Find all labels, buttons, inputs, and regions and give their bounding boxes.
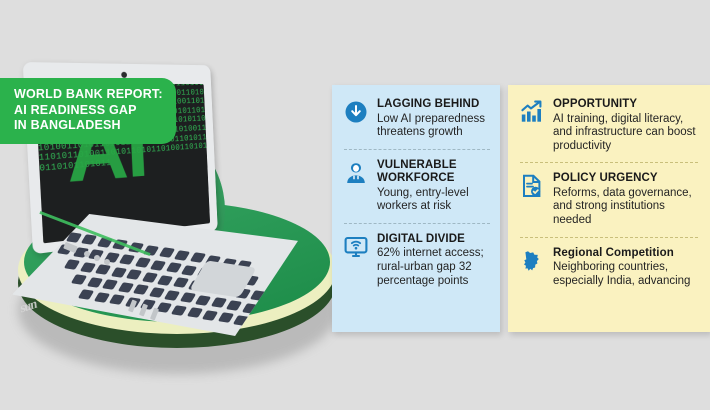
item-body: AI training, digital literacy, and infra…	[553, 113, 698, 154]
banner-line-2: AI READINESS GAP	[14, 103, 162, 119]
keyboard-key	[195, 295, 211, 306]
keyboard-key	[250, 290, 266, 301]
panel-item-policy-urgency: POLICY URGENCY Reforms, data governance,…	[520, 172, 698, 227]
keyboard-key	[157, 275, 173, 286]
keyboard-key	[226, 300, 242, 311]
keyboard-key	[172, 277, 188, 288]
keyboard-key	[102, 279, 118, 290]
keyboard-key	[241, 303, 257, 314]
keyboard-key	[141, 272, 157, 283]
item-body: Young, entry-level workers at risk	[377, 187, 490, 214]
keyboard-key	[179, 292, 195, 303]
keyboard-key	[186, 307, 202, 318]
keyboard-key	[126, 270, 142, 281]
keyboard-key	[117, 282, 133, 293]
bangladesh-map-icon	[520, 249, 544, 273]
item-title: Regional Competition	[553, 247, 698, 261]
infographic-canvas: 1011010110101101001101011010110100110101…	[0, 0, 710, 410]
panel-divider	[520, 162, 698, 163]
keyboard-key	[81, 234, 97, 245]
keyboard-key	[150, 260, 166, 271]
opportunities-panel: OPPORTUNITY AI training, digital literac…	[508, 85, 710, 332]
item-title: DIGITAL DIVIDE	[377, 233, 490, 247]
keyboard-key	[189, 253, 205, 264]
keyboard-key	[174, 250, 190, 261]
arrow-down-circle-icon	[344, 100, 368, 124]
keyboard-key	[95, 264, 111, 275]
keyboard-key	[119, 255, 135, 266]
keyboard-key	[202, 310, 218, 321]
keyboard-key	[210, 298, 226, 309]
banner-line-1: WORLD BANK REPORT:	[14, 87, 162, 103]
panel-divider	[344, 149, 490, 150]
user-worker-icon	[344, 161, 368, 185]
item-title: VULNERABLE WORKFORCE	[377, 159, 490, 186]
item-body: Reforms, data governance, and strong ins…	[553, 187, 698, 228]
item-title: LAGGING BEHIND	[377, 98, 490, 112]
panel-divider	[520, 237, 698, 238]
keyboard-key	[165, 262, 181, 273]
keyboard-key	[134, 257, 150, 268]
item-body: Neighboring countries, especially India,…	[553, 261, 698, 288]
keyboard-key	[64, 259, 80, 270]
panel-item-digital-divide: DIGITAL DIVIDE 62% internet access; rura…	[344, 233, 490, 288]
monitor-wifi-icon	[344, 235, 368, 259]
keyboard-key	[71, 274, 87, 285]
item-body: Low AI preparedness threatens growth	[377, 113, 490, 140]
panel-divider	[344, 223, 490, 224]
panel-item-vulnerable-workforce: VULNERABLE WORKFORCE Young, entry-level …	[344, 159, 490, 214]
panel-item-regional-competition: Regional Competition Neighboring countri…	[520, 247, 698, 289]
keyboard-key	[158, 247, 174, 258]
keyboard-key	[181, 265, 197, 276]
report-title-banner: WORLD BANK REPORT: AI READINESS GAP IN B…	[0, 78, 176, 144]
panel-item-opportunity: OPPORTUNITY AI training, digital literac…	[520, 98, 698, 153]
keyboard-key	[110, 267, 126, 278]
document-check-icon	[520, 174, 544, 198]
bar-chart-growth-icon	[520, 100, 544, 124]
keyboard-key	[164, 290, 180, 301]
item-title: OPPORTUNITY	[553, 98, 698, 112]
panel-item-lagging-behind: LAGGING BEHIND Low AI preparedness threa…	[344, 98, 490, 140]
item-title: POLICY URGENCY	[553, 172, 698, 186]
keyboard-key	[217, 313, 233, 324]
keyboard-key	[86, 277, 102, 288]
keyboard-key	[78, 289, 94, 300]
keyboard-key	[148, 287, 164, 298]
banner-line-3: IN BANGLADESH	[14, 118, 162, 134]
challenges-panel: LAGGING BEHIND Low AI preparedness threa…	[332, 85, 500, 332]
keyboard-key	[133, 285, 149, 296]
keyboard-key	[93, 292, 109, 303]
keyboard-key	[79, 262, 95, 273]
item-body: 62% internet access; rural-urban gap 32 …	[377, 247, 490, 288]
keyboard-key	[109, 294, 125, 305]
webcam-icon	[121, 72, 127, 78]
keyboard-key	[171, 305, 187, 316]
